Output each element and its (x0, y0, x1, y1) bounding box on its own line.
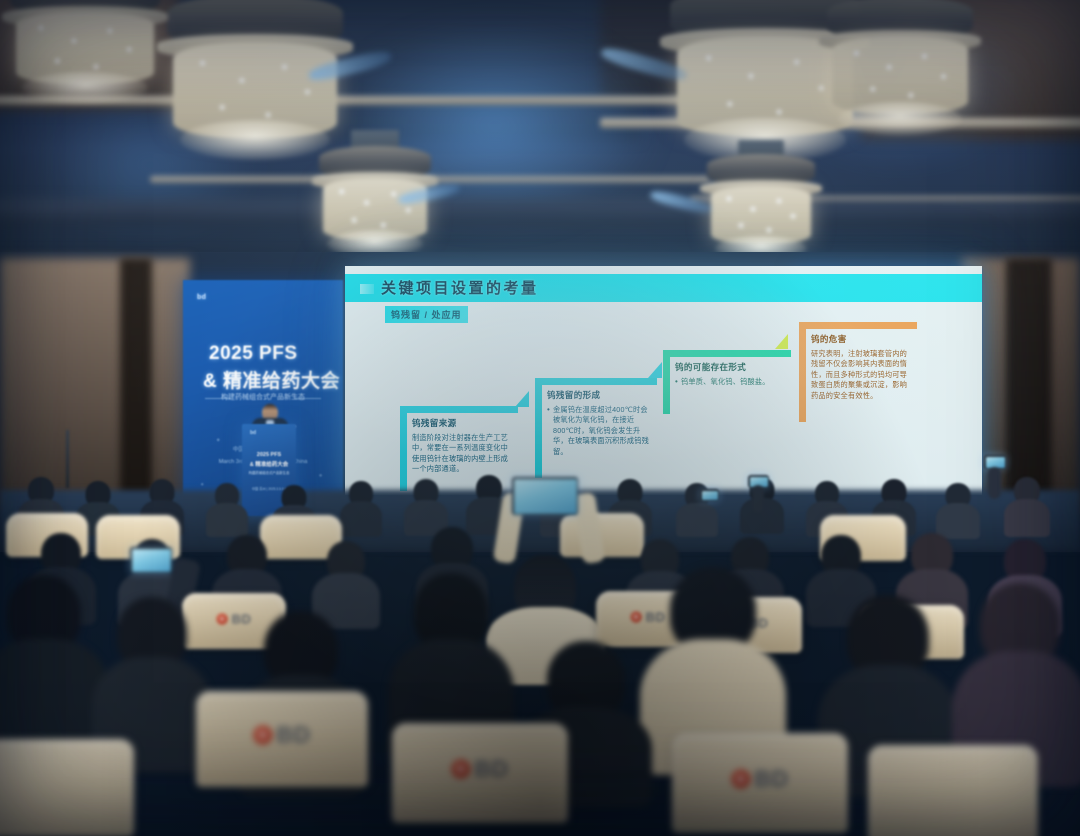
crystal-drum-chandelier (300, 130, 450, 268)
step-arrow-1 (515, 391, 529, 407)
slide-title: 关键项目设置的考量 (381, 277, 539, 298)
slide-section-tag: 钨残留 / 处应用 (385, 306, 468, 323)
audience-member (936, 483, 980, 537)
audience-member (1004, 477, 1050, 535)
bd-seat-logo: BD (253, 722, 310, 749)
banner-subtitle: 构建药械组合式产品新生态 (183, 392, 343, 402)
chair-front (868, 745, 1038, 836)
crystal-drum-chandelier (800, 0, 1000, 146)
chair-bd-front: BD (392, 723, 568, 823)
bd-seat-logo-text: BD (474, 756, 508, 783)
banner-title-line2: & 精准给药大会 (203, 366, 340, 393)
raised-arm (752, 485, 764, 513)
audience-seating: BD BD BD (0, 455, 1080, 836)
audience-member (340, 481, 382, 535)
step-arrow-3 (775, 334, 788, 349)
phone-camera-center (512, 477, 578, 515)
crystal-drum-chandelier (0, 0, 180, 130)
bd-logo: bd (197, 294, 206, 301)
banner-title-line1: 2025 PFS (209, 343, 298, 365)
audience-member (206, 483, 248, 535)
step-3-body: 钨单质、氧化钨、钨酸盐。 (675, 377, 787, 387)
phone-camera (700, 489, 719, 501)
bd-seat-logo: BD (731, 766, 788, 793)
podium-bd-logo: bd (250, 430, 256, 436)
step-4-heading: 钨的危害 (811, 333, 913, 345)
slide-step-3: 钨的可能存在形式 钨单质、氧化钨、钨酸盐。 (663, 350, 791, 414)
step-2-body: 金属钨在温度超过400℃时会被氧化为氧化钨，在接近800℃时，氧化钨会发生升华，… (547, 405, 653, 457)
bd-seat-logo-text: BD (276, 722, 310, 749)
chair-front (0, 739, 134, 836)
slide-step-4: 钨的危害 研究表明，注射玻璃套管内的残留不仅会影响其内表面的惰性，而且多种形式的… (799, 322, 917, 422)
phone-camera (130, 547, 172, 573)
bd-seat-logo-text: BD (754, 766, 788, 793)
step-2-heading: 钨残留的形成 (547, 389, 653, 401)
step-arrow-2 (648, 362, 662, 378)
chair-bd-front: BD (196, 691, 368, 787)
step-4-body: 研究表明，注射玻璃套管内的残留不仅会影响其内表面的惰性，而且多种形式的钨均可导致… (811, 349, 913, 401)
crystal-drum-chandelier (686, 140, 836, 268)
slide-title-decoration (360, 284, 374, 294)
chair-bd-front: BD (672, 733, 848, 833)
ceiling (0, 0, 1080, 268)
step-1-heading: 钨残留来源 (412, 417, 514, 429)
raised-arm (988, 467, 1001, 499)
conference-hall-photo: bd 2025 PFS & 精准给药大会 构建药械组合式产品新生态 中国·苏州 … (0, 0, 1080, 836)
bd-seat-logo: BD (451, 756, 508, 783)
step-3-heading: 钨的可能存在形式 (675, 361, 787, 373)
